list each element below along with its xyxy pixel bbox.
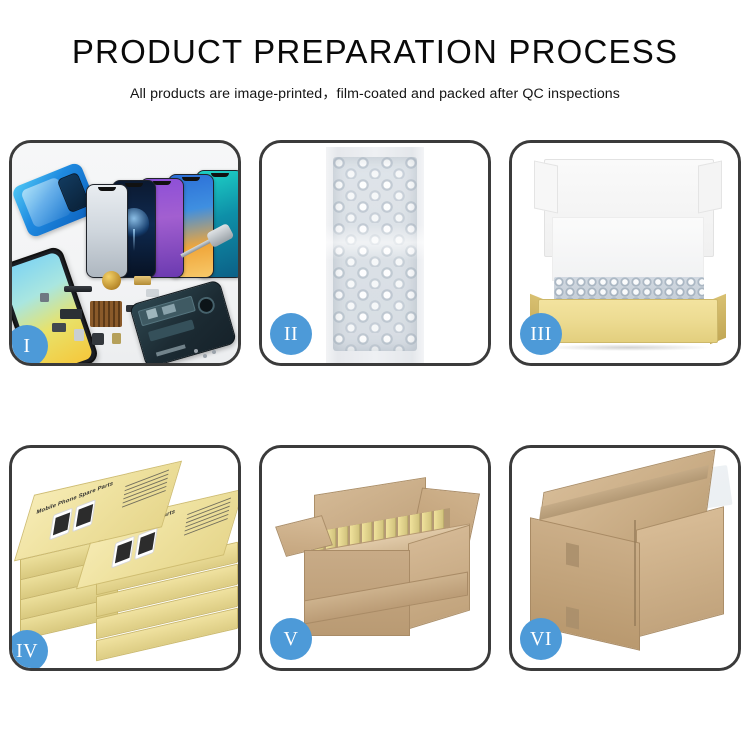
connector-grid-part-icon (90, 301, 122, 327)
screws-icon (194, 349, 220, 361)
step-cell-3: III (500, 133, 750, 373)
page-subtitle: All products are image-printed，film-coat… (0, 83, 750, 103)
small-part-icon-2 (146, 289, 159, 297)
step-panel-product-parts[interactable]: I (9, 140, 241, 366)
phone-glass-panel-icon (86, 184, 128, 278)
open-inner-box-icon (530, 159, 726, 349)
step-badge-6: VI (520, 618, 562, 660)
small-part-icon-5 (74, 329, 84, 341)
grid-gap (0, 373, 250, 438)
box-stack-icon: Mobile Phone Spare Parts Mobile Phone Sp… (18, 462, 238, 662)
step-cell-1: I (0, 133, 250, 373)
small-part-icon-6 (92, 333, 104, 345)
step-badge-5: V (270, 618, 312, 660)
step-panel-inner-box-packing[interactable]: III (509, 140, 741, 366)
step-cell-5: V (250, 438, 500, 678)
stacked-boxes-illustration: Mobile Phone Spare Parts Mobile Phone Sp… (12, 448, 238, 668)
small-part-icon-1 (134, 276, 151, 285)
page-title: PRODUCT PREPARATION PROCESS (0, 34, 750, 70)
phone-internals-icon (129, 279, 238, 363)
step-badge-1: I (9, 325, 48, 366)
step-badge-4: IV (9, 630, 48, 671)
small-part-icon-4 (52, 323, 66, 332)
small-part-icon-7 (112, 333, 121, 344)
step-cell-2: II (250, 133, 500, 373)
flex-cable-part-icon (64, 286, 92, 292)
product-preparation-infographic: PRODUCT PREPARATION PROCESS All products… (0, 0, 750, 750)
step-panel-bubble-wrap[interactable]: II (259, 140, 491, 366)
product-parts-illustration (12, 143, 238, 363)
step-badge-3: III (520, 313, 562, 355)
grid-gap (500, 373, 750, 438)
grid-gap (250, 373, 500, 438)
step-cell-4: Mobile Phone Spare Parts Mobile Phone Sp… (0, 438, 250, 678)
process-steps-grid: I II (0, 133, 750, 678)
step-cell-6: VI (500, 438, 750, 678)
step-panel-carton-filling[interactable]: V (259, 445, 491, 671)
open-carton-icon (278, 476, 478, 652)
small-part-icon-10 (40, 293, 49, 302)
speaker-part-icon (102, 271, 121, 290)
bubble-wrap-bag-icon (326, 147, 424, 363)
step-panel-stacked-boxes[interactable]: Mobile Phone Spare Parts Mobile Phone Sp… (9, 445, 241, 671)
step-badge-2: II (270, 313, 312, 355)
step-panel-sealed-carton[interactable]: VI (509, 445, 741, 671)
header: PRODUCT PREPARATION PROCESS All products… (0, 0, 750, 103)
phone-lineup-group (74, 153, 238, 278)
small-part-icon-3 (60, 309, 82, 319)
